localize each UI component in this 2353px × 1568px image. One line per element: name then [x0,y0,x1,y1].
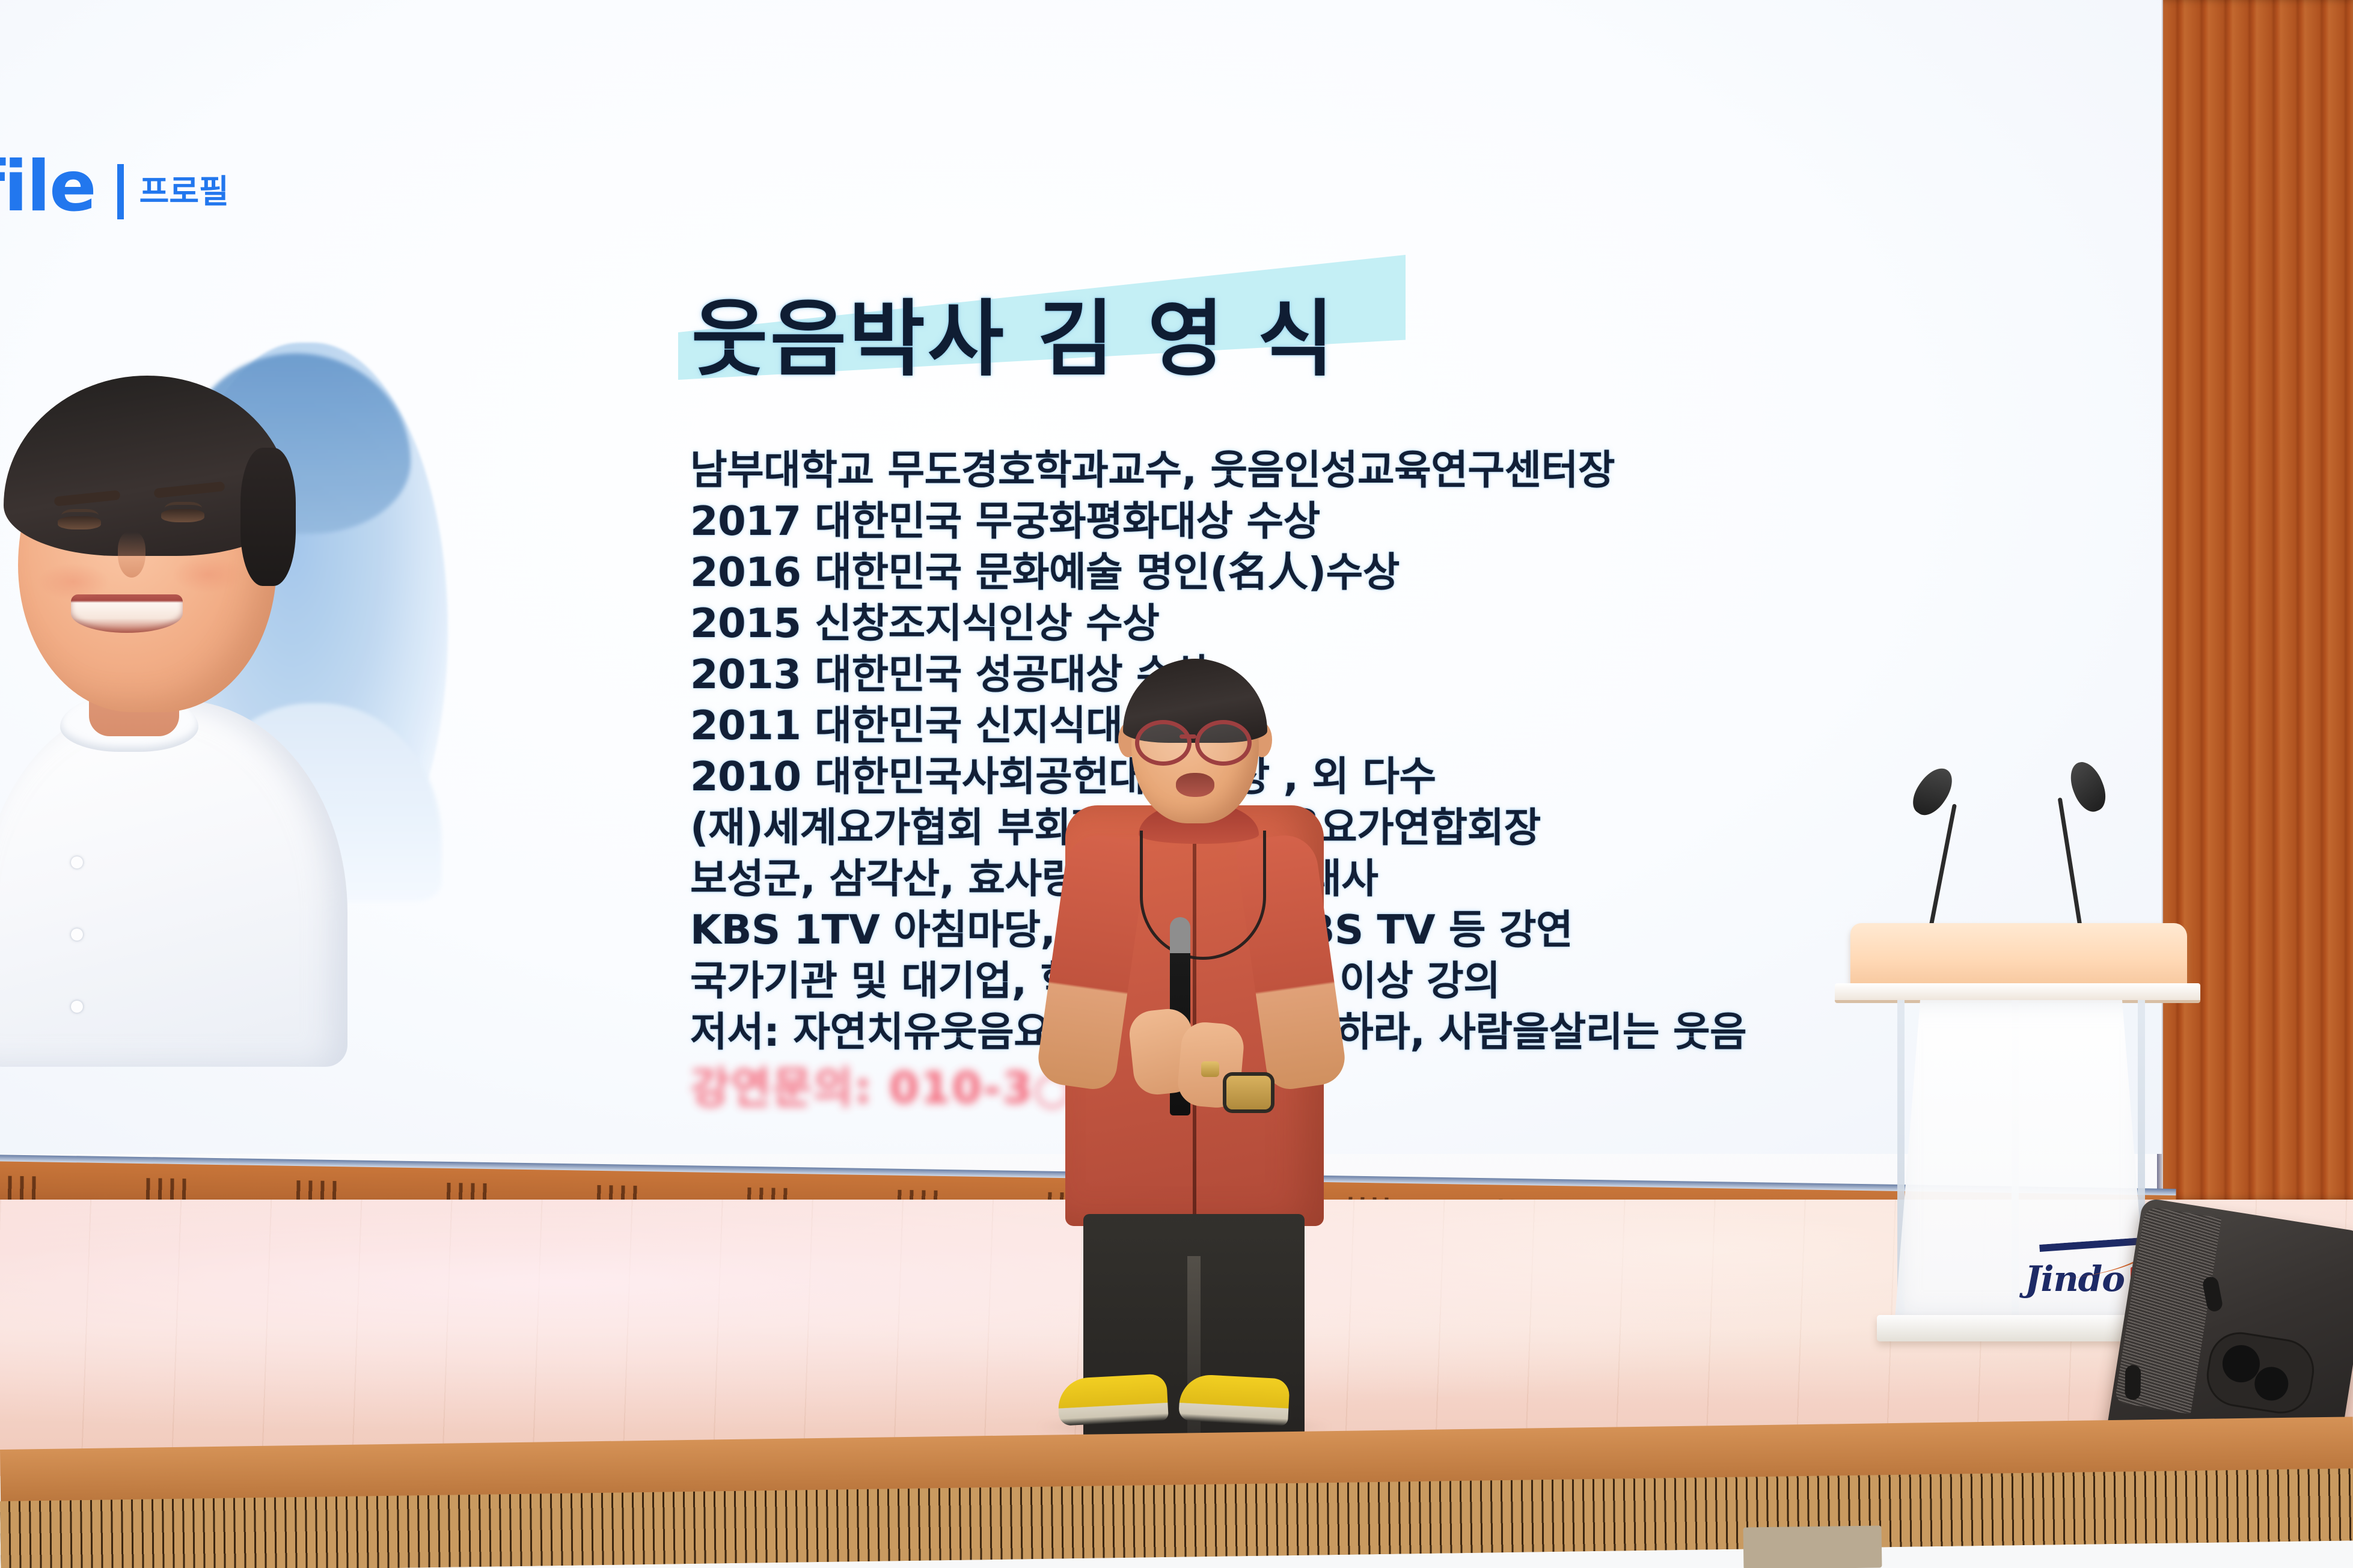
presenter-lanyard [1140,831,1266,960]
presenter-glasses-lens [1135,720,1192,766]
stage-front-vent-panel [1743,1525,1882,1568]
presenter-wristwatch [1226,1076,1271,1109]
slide-body-line: 2016 대한민국 문화예술 명인(名人)수상 [690,547,1983,598]
presenter-shoe [1178,1373,1290,1426]
podium-top-panel [1850,923,2187,989]
portrait-eye [58,516,101,529]
portrait-smile [71,594,183,633]
podium-front-panel: Jindo [1895,1000,2147,1319]
slide-logo-bar [117,164,124,219]
slide-logo-korean: 프로필 [139,165,229,219]
lecture-scene: file 프로필 [0,0,2353,1568]
portrait-white-shirt [0,700,347,1067]
portrait-eye [161,509,204,522]
portrait-main-figure [0,352,355,1067]
portrait-shirt-button [71,856,83,868]
portrait-shirt-button [71,929,83,941]
presenter-mouth [1176,773,1214,797]
presenter-figure [1028,655,1353,1430]
slide-logo-word: file [0,155,96,219]
presenter-glasses-lens [1195,720,1252,766]
presenter-glasses-bridge [1180,734,1196,739]
portrait-hair [4,376,291,556]
presenter-ring [1201,1061,1219,1077]
slide-body-line: 남부대학교 무도경호학과교수, 웃음인성교육연구센터장 [690,445,1983,496]
portrait-cheek [172,556,244,593]
podium-mic-stem [2058,798,2083,930]
slide-body-line: 2015 신창조지식인상 수상 [690,598,1983,649]
portrait-shirt-button [71,1001,83,1013]
monitor-handle [2125,1365,2141,1400]
presenter-shoe [1057,1373,1169,1426]
slide-title: 웃음박사 김 영 식 [691,272,1336,392]
podium-mic-stem [1929,804,1957,928]
portrait-nose [118,532,145,578]
slide-body-line: 2017 대한민국 무궁화평화대상 수상 [690,496,1983,547]
slide-logo: file 프로필 [0,155,229,219]
portrait-photo [0,337,547,1100]
portrait-cheek [37,563,109,600]
